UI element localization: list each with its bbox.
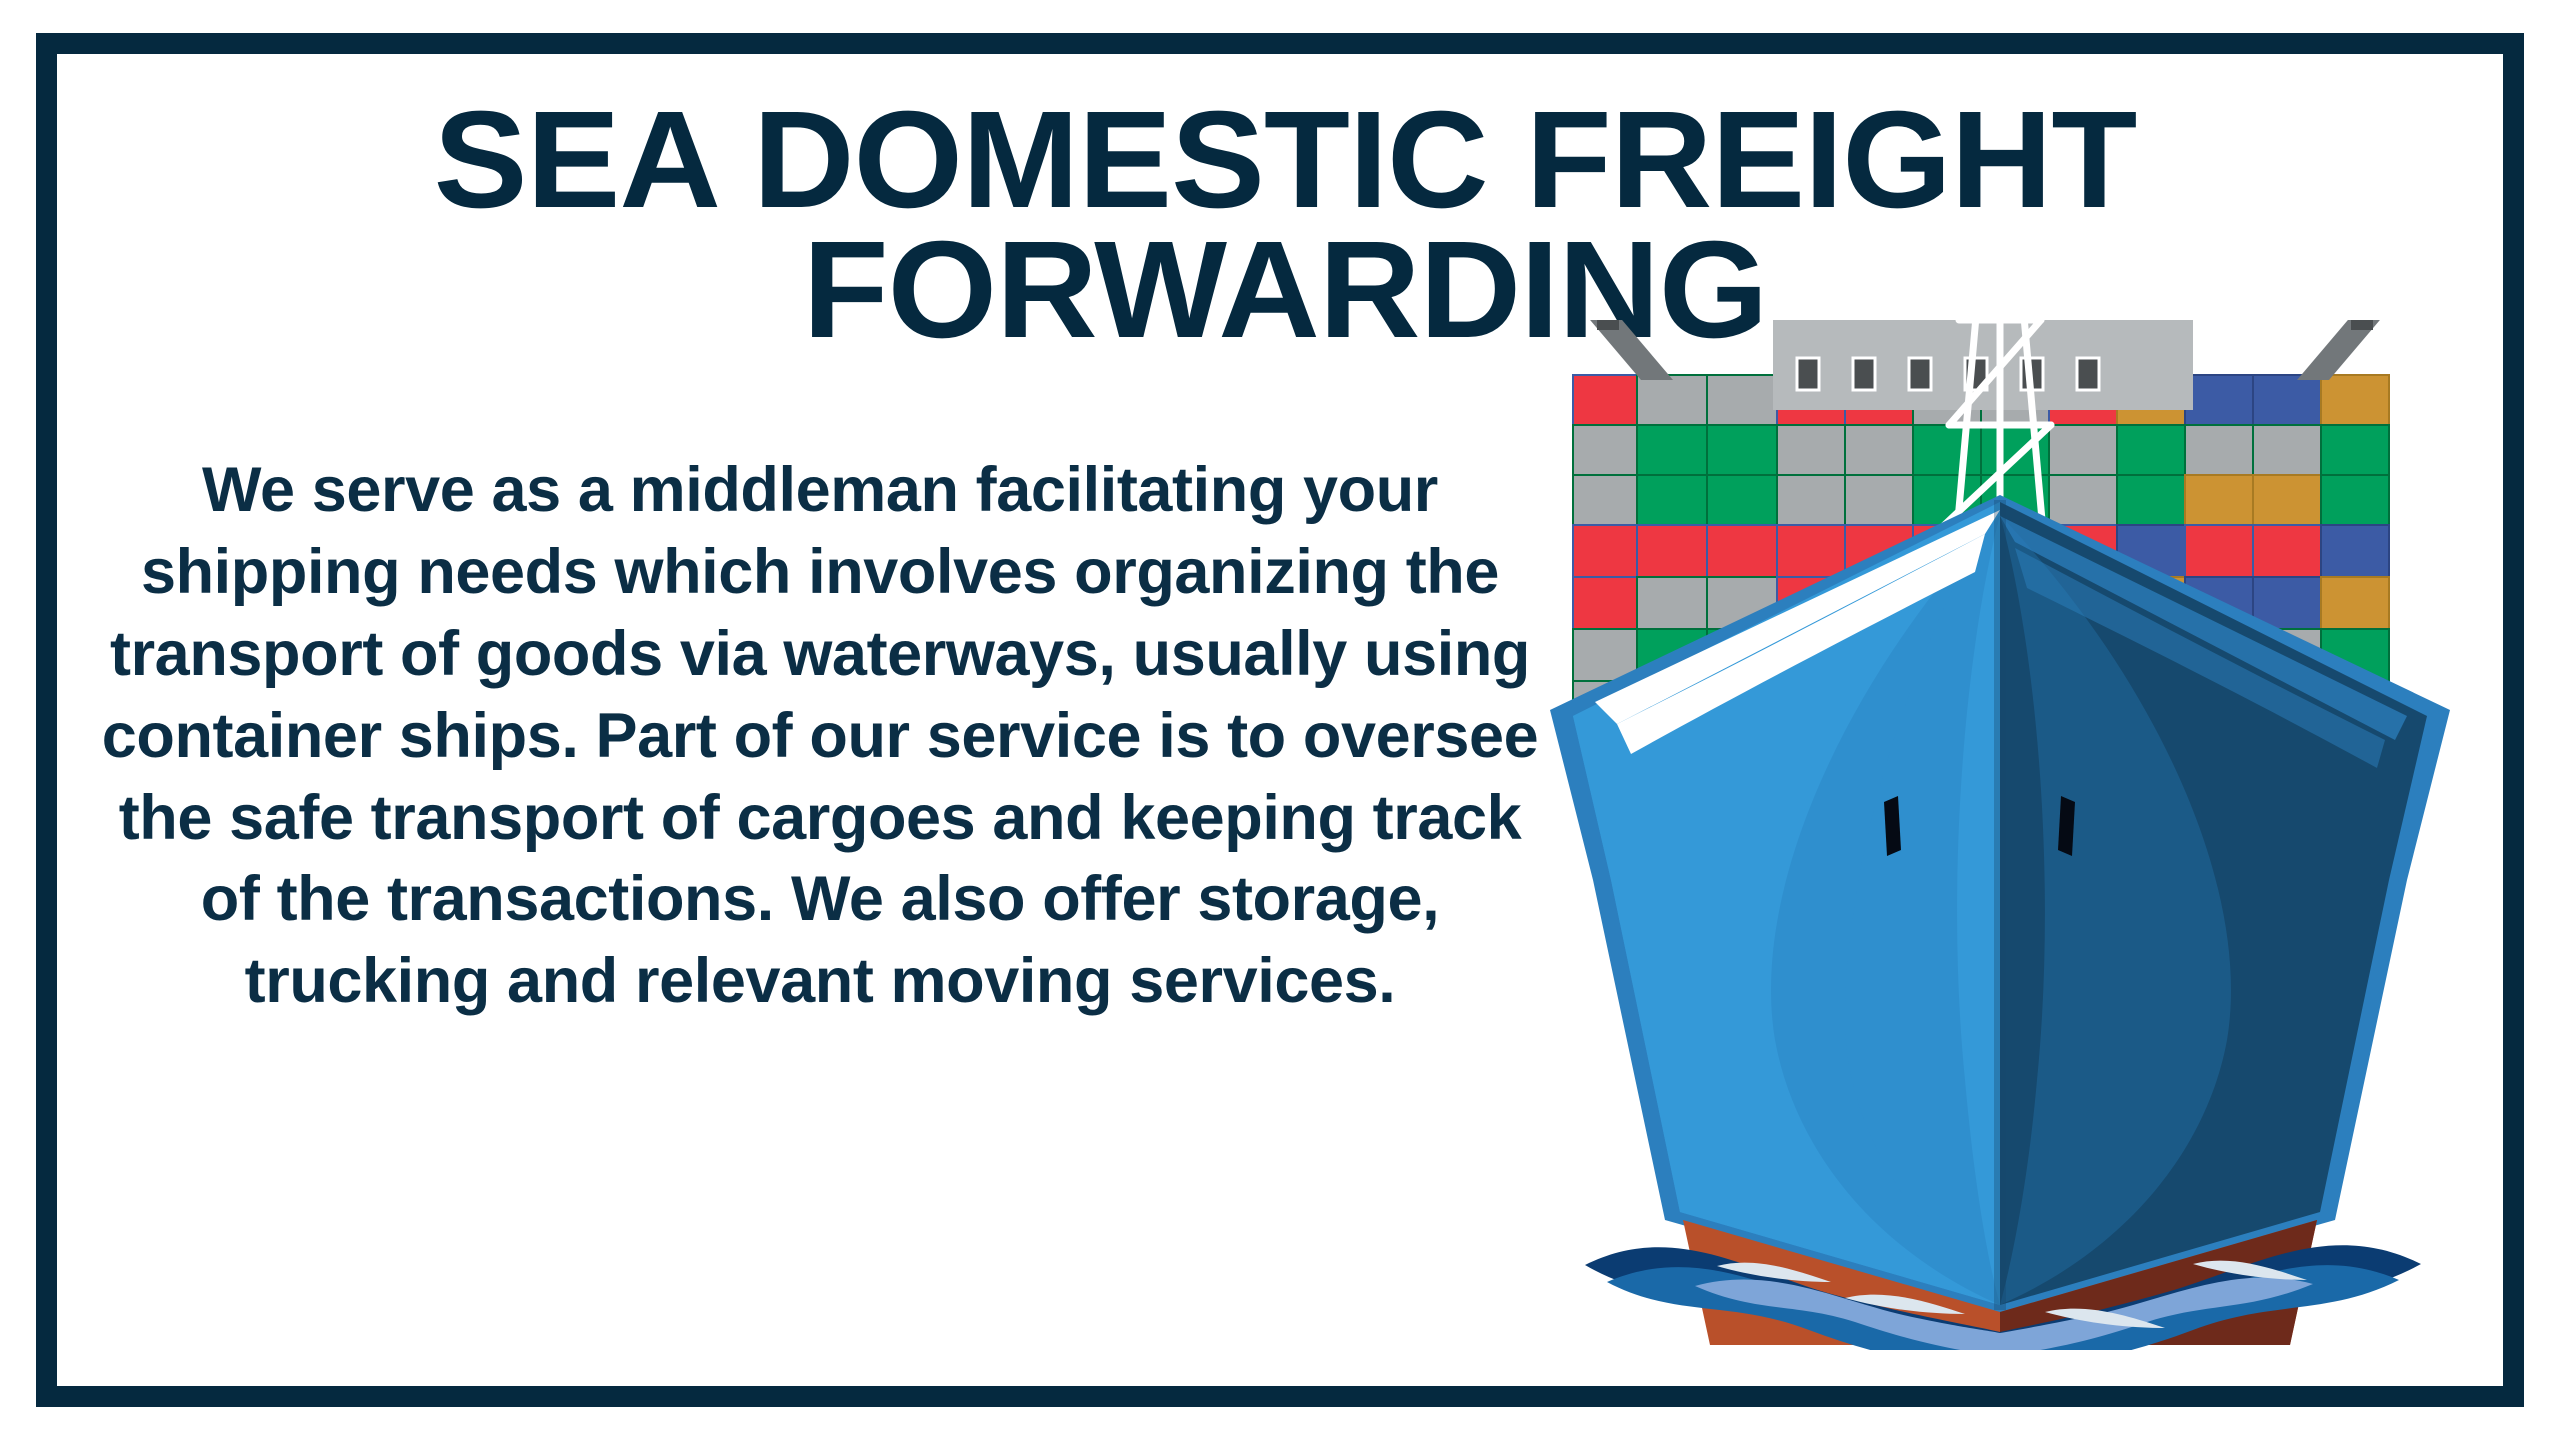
anchor-port-left: [1884, 796, 1901, 856]
anchor-port-right: [2058, 796, 2075, 856]
body-paragraph: We serve as a middleman facilitating you…: [95, 450, 1545, 1023]
page-title: SEA DOMESTIC FREIGHT FORWARDING: [158, 96, 2412, 355]
container-ship-illustration: [1545, 320, 2465, 1350]
poster-canvas: SEA DOMESTIC FREIGHT FORWARDING We serve…: [0, 0, 2560, 1440]
